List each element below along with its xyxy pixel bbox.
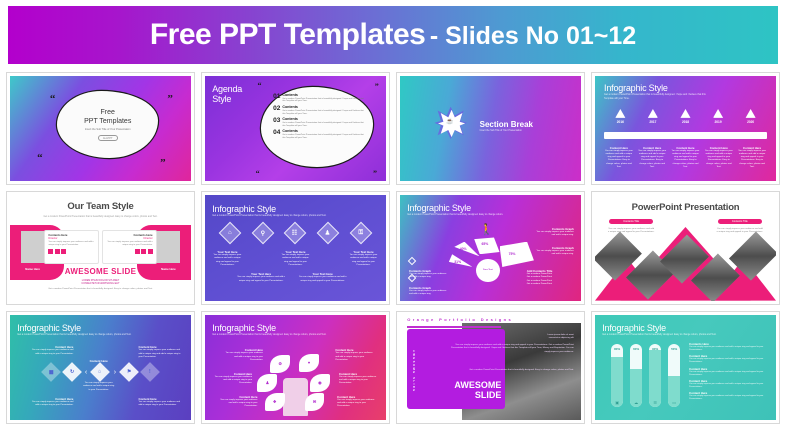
callout: Content HereYou can simply impress your … [335,348,375,362]
diamond-captions-top: Your Text HereYou can simply impress you… [210,250,380,267]
facebook-icon[interactable] [48,249,53,254]
caption: Your Text HereYou can simply impress you… [348,250,379,267]
quote-close-icon: ” [375,82,379,91]
portfolio-body-top: Lorem ipsum dolor sit amet consectetur a… [447,334,574,341]
center-heading: Content Here [82,359,115,363]
person-figure-icon: 🚶 [480,223,494,236]
callout-body: You can simply impress your audience and… [534,250,574,257]
portfolio-side-label: AWESOME SLIDE [412,350,415,393]
tag-icon: ⚑ [119,362,139,382]
slide1-subtitle: Insert the Sub Title of Your Presentatio… [85,128,131,132]
slide12-heading: Infographic Style Get a modern PowerPoin… [602,323,729,336]
progress-bar: 90%☰ [649,344,661,407]
lock-icon: ⚿ [349,221,372,244]
page-banner: Free PPT Templates - Slides No 01~12 [8,6,778,64]
pie-value: 40% [460,247,467,251]
pie-value: 65% [481,242,488,246]
agenda-item: 03 Contents Get a modern PowerPoint Pres… [273,118,365,128]
pill-text-left: You can simply impress your audience and… [608,228,655,235]
callout: Contents GraphYou can simply impress you… [409,268,449,297]
pie-center: Your Text [476,259,500,282]
slide-thumbnail-11[interactable]: Orange Portfolio Designs AWESOME SLIDE L… [396,311,585,424]
bar-fill [649,350,661,407]
legend-row: Content HereYou can simply impress your … [689,354,769,364]
triangle-icon [713,109,724,119]
pie-center-label: Your Text [483,269,493,271]
slide3-title: Section Break [480,120,533,129]
pie-value: 31% [454,260,461,264]
title-blob: Free PPT Templates Insert the Sub Title … [57,91,158,158]
bar-value: 90% [649,347,661,351]
column-body: You can simply impress your audience and… [671,150,699,170]
callout-body: You can simply impress your audience and… [139,401,184,408]
legend: Add Contents Title Get a modern PowerPoi… [527,269,574,286]
caption: Your Text HereYou can simply impress you… [235,272,287,283]
slide12-subtitle: Get a modern PowerPoint Presentation tha… [602,333,729,336]
quote-open-icon: “ [50,93,56,105]
timeline-node: 2016 [615,109,626,124]
agenda-number: 04 [273,130,280,137]
agenda-desc: Get a modern PowerPoint Presentation tha… [282,110,365,116]
linkedin-icon[interactable] [148,249,153,254]
callout-body: You can simply impress your audience and… [335,352,375,362]
alert-icon: ! [140,362,160,382]
column-body: You can simply impress your audience and… [638,150,666,170]
column-body: You can simply impress your audience and… [705,150,733,170]
search-icon: ⚲ [252,221,275,244]
slide-thumbnail-6[interactable]: Infographic Style Get a modern PowerPoin… [201,191,390,304]
bar-value: 50% [668,347,680,351]
timeline-year: 2019 [715,120,722,124]
member-role: Director [48,237,94,240]
coffee-cup-icon: ☕ [446,118,453,125]
grid-icon: ▦ [41,362,61,382]
legend-body: You can simply impress your audience and… [689,358,769,364]
triangle-icon [680,109,691,119]
agenda-item: 02 Contents Get a modern PowerPoint Pres… [273,106,365,116]
progress-bar: 50%▭ [668,344,680,407]
pie-value: 75% [509,252,516,256]
triangle-icon [745,109,756,119]
member-photo [157,231,181,263]
legend-row: Content HereYou can simply impress your … [689,391,769,401]
slide9-title: Infographic Style [17,323,144,333]
member-desc: You can simply impress your audience and… [48,241,94,247]
column-body: You can simply impress your audience and… [605,150,633,170]
center-callout: Content Here [82,359,115,363]
awesome-note: Get a modern PowerPoint Presentation tha… [10,288,191,291]
agenda-blob: 01 Contents Get a modern PowerPoint Pres… [261,87,373,167]
banner-title: Free PPT Templates - Slides No 01~12 [150,18,636,52]
legend-row: Content HereYou can simply impress your … [689,379,769,389]
awesome-subtext: LOREM IPSUM DOLOR SIT AMET CONSECTETUR A… [10,279,191,286]
slide3-text: Section Break Insert the Sub Title of Yo… [480,120,533,132]
portfolio-header: Orange Portfolio Designs [407,317,513,322]
member-desc: You can simply impress your audience and… [106,241,152,247]
slide-thumbnail-5[interactable]: Our Team Style Get a modern PowerPoint P… [6,191,195,304]
legend-item: Get a modern PowerPoint [527,283,574,286]
awesome-slide-text: AWESOME SLIDE [10,267,191,276]
center-callout-body: You can simply impress your audience and… [82,382,115,392]
slide12-title: Infographic Style [602,323,729,333]
callout: Content HereYou can simply impress your … [28,345,73,356]
timeline-year: 2020 [747,120,754,124]
timeline-column: Content HereYou can simply impress your … [638,146,666,170]
member-role: Director [106,237,152,240]
progress-bar: 80%▣ [611,344,623,407]
awesome-slide-text: AWESOME SLIDE [440,380,502,401]
center-body: You can simply impress your audience and… [82,382,115,392]
agenda-label: Contents [282,118,365,122]
callout: Content HereYou can simply impress your … [28,397,73,408]
callout-body: You can simply impress your audience and… [409,290,449,297]
agenda-desc: Get a modern PowerPoint Presentation tha… [282,122,365,128]
callout-body: You can simply impress your audience and… [337,399,377,409]
callout-body: You can simply impress your audience and… [218,399,258,409]
timeline-node: 2017 [647,109,658,124]
slide1-badge: ALLPPT [98,135,118,141]
callout: Content HereYou can simply impress your … [337,395,377,409]
callout-body: You can simply impress your audience and… [28,401,73,408]
progress-bar: 60%☁ [630,344,642,407]
callout: Content HereYou can simply impress your … [212,372,252,386]
puzzle-icon: ❖ [265,393,285,411]
quote-open-2-icon: “ [256,169,260,178]
slide1-title-line1: Free [101,108,115,117]
agenda-label: Contents [282,106,365,110]
awesome-line1: AWESOME [440,380,502,390]
twitter-icon[interactable] [55,249,60,254]
linkedin-icon[interactable] [61,249,66,254]
eye-icon: ◉ [310,374,330,392]
slide2-heading: Agenda Style [212,84,242,104]
timeline-year: 2017 [649,120,656,124]
caption-body: You can simply impress your audience and… [297,276,349,283]
slide-thumbnail-3[interactable]: ☕ Section Break Insert the Sub Title of … [396,72,585,185]
monitor-icon: ▣ [611,400,623,405]
agenda-number: 03 [273,118,280,125]
refresh-icon: ↻ [62,362,82,382]
slide10-title: Infographic Style [212,323,339,333]
bar-value: 80% [611,347,623,351]
slide1-title-line2: PPT Templates [84,117,131,126]
caption: Your Text HereYou can simply impress you… [280,250,311,267]
home-icon: ⌂ [219,221,242,244]
member-card: Contents Here Director You can simply im… [102,230,156,264]
legend-row: Content HereYou can simply impress your … [689,367,769,377]
header-underline [407,326,501,328]
bar-legend: Contents HereYou can simply impress your… [689,342,769,403]
chat-icon: ▭ [668,400,680,405]
callout: Content HereYou can simply impress your … [223,348,263,362]
legend-body: You can simply impress your audience and… [689,371,769,377]
slide-grid: “ ” “ ” Free PPT Templates Insert the Su… [6,72,780,424]
slide-thumbnail-4[interactable]: Infographic Style Get a modern PowerPoin… [591,72,780,185]
slide6-heading: Infographic Style Get a modern PowerPoin… [212,204,339,217]
slide3-subtitle: Insert the Sub Title of Your Presentatio… [480,129,533,132]
slide5-title: Our Team Style [10,201,191,212]
agenda-desc: Get a modern PowerPoint Presentation tha… [282,134,365,140]
timeline-column: Content HereYou can simply impress your … [605,146,633,170]
gear-icon: ⚙ [270,355,290,373]
social-icons[interactable] [106,249,152,254]
bar-group: 80%▣ 60%☁ 90%☰ 50%▭ [608,344,684,407]
diamond-group: ▦ ↻ ‹ ⌂ › ⚑ ! [44,365,156,379]
quote-open-icon: “ [257,81,261,90]
mail-icon: ✉ [305,393,325,411]
quote-open-2-icon: “ [37,152,43,164]
twitter-icon[interactable] [141,249,146,254]
slide-thumbnail-2[interactable]: Agenda Style “ ” “ ” 01 Contents Get a m… [201,72,390,185]
timeline-node: 2018 [680,109,691,124]
callout: Contents GraphYou can simply impress you… [534,246,574,257]
callout: Content HereYou can simply impress your … [139,397,184,408]
slide5-subtitle: Get a modern PowerPoint Presentation tha… [10,215,191,218]
portfolio-body-main: You can simply impress your audience and… [447,344,574,354]
caption-body: You can simply impress your audience and… [212,254,243,267]
slide10-subtitle: Get a modern PowerPoint Presentation tha… [212,333,339,336]
timeline-column: Content HereYou can simply impress your … [671,146,699,170]
slide-thumbnail-1[interactable]: “ ” “ ” Free PPT Templates Insert the Su… [6,72,195,185]
caption: Your Text HereYou can simply impress you… [297,272,349,283]
triangle-icon [615,109,626,119]
caption: Your Text HereYou can simply impress you… [212,250,243,267]
user-icon: ♟ [317,221,340,244]
banner-title-main: Free PPT Templates [150,18,426,51]
agenda-item: 04 Contents Get a modern PowerPoint Pres… [273,130,365,140]
slide8-title: PowerPoint Presentation [595,202,776,213]
timeline-columns: Content HereYou can simply impress your … [602,146,769,170]
timeline-years: 2016 2017 2018 2019 2020 [604,109,767,124]
portfolio-body-bottom: Get a modern PowerPoint Presentation tha… [447,369,574,372]
slide4-subtitle: Get a modern PowerPoint Presentation tha… [604,93,713,100]
agenda-number: 02 [273,106,280,113]
quote-close-2-icon: ” [160,157,166,169]
timeline-column: Content HereYou can simply impress your … [705,146,733,170]
triangle-icon [647,109,658,119]
caption-body: You can simply impress your audience and… [280,254,311,267]
callout-body: You can simply impress your audience and… [28,349,73,356]
slide9-subtitle: Get a modern PowerPoint Presentation tha… [17,333,144,336]
diamond-marker-icon [408,257,416,265]
doc-icon: ☰ [649,400,661,405]
timeline-bar [604,132,767,139]
diamond-marker-icon [408,274,416,282]
slide2-title-line1: Agenda [212,84,242,94]
timeline-node: 2019 [713,109,724,124]
legend-row: Contents HereYou can simply impress your… [689,342,769,352]
callout-body: You can simply impress your audience and… [339,376,379,386]
pie-wedge [454,242,479,257]
pill-label-right: Contents Title [718,219,761,224]
user-icon: ♟ [257,374,277,392]
home-icon: ⌂ [91,362,111,382]
slide7-subtitle: Get a modern PowerPoint Presentation tha… [407,213,516,216]
slide7-heading: Infographic Style Get a modern PowerPoin… [407,203,516,216]
callout: Contents GraphYou can simply impress you… [534,227,574,238]
slide-thumbnail-10[interactable]: Infographic Style Get a modern PowerPoin… [201,311,390,424]
member-photo [21,231,45,263]
diamond-row: ⌂ ⚲ ☷ ♟ ⚿ [214,225,377,241]
callout-body: You can simply impress your audience and… [534,231,574,238]
pie-wedge [474,237,499,254]
slide-thumbnail-7[interactable]: Infographic Style Get a modern PowerPoin… [396,191,585,304]
timeline-column: Content HereYou can simply impress your … [738,146,766,170]
caption-body: You can simply impress your audience and… [348,254,379,267]
timeline-year: 2018 [682,120,689,124]
facebook-icon[interactable] [135,249,140,254]
slide4-heading: Infographic Style Get a modern PowerPoin… [604,83,713,100]
diamond-captions-bottom: Your Text HereYou can simply impress you… [230,272,353,283]
column-body: You can simply impress your audience and… [738,150,766,170]
agenda-desc: Get a modern PowerPoint Presentation tha… [282,98,365,104]
legend-body: You can simply impress your audience and… [689,395,769,401]
awesome-line2: SLIDE [440,390,502,400]
callout-body: You can simply impress your audience and… [223,352,263,362]
slide10-heading: Infographic Style Get a modern PowerPoin… [212,323,339,336]
bar-value: 60% [630,347,642,351]
slide7-title: Infographic Style [407,203,516,213]
banner-title-sub: - Slides No 01~12 [430,22,636,50]
slide4-title: Infographic Style [604,83,713,93]
agenda-label: Contents [282,94,365,98]
timeline-node: 2020 [745,109,756,124]
legend-body: You can simply impress your audience and… [689,383,769,389]
template-gallery-page: Free PPT Templates - Slides No 01~12 “ ”… [0,0,786,430]
quote-close-icon: ” [167,93,173,105]
pill-label-left: Contents Title [609,219,652,224]
slide2-title-line2: Style [212,94,242,104]
slide-thumbnail-9[interactable]: Infographic Style Get a modern PowerPoin… [6,311,195,424]
caption-body: You can simply impress your audience and… [235,276,287,283]
callout-body: You can simply impress your audience and… [139,349,184,359]
agenda-number: 01 [273,94,280,101]
chevron-left-icon: ‹ [85,369,87,376]
slide6-subtitle: Get a modern PowerPoint Presentation tha… [212,214,339,217]
member-card: Contents Here Director You can simply im… [44,230,98,264]
chevron-right-icon: › [114,369,116,376]
slide-thumbnail-12[interactable]: Infographic Style Get a modern PowerPoin… [591,311,780,424]
social-icons[interactable] [48,249,94,254]
callout: Content HereYou can simply impress your … [339,372,379,386]
slide9-heading: Infographic Style Get a modern PowerPoin… [17,323,144,336]
slide6-title: Infographic Style [212,204,339,214]
quote-close-2-icon: ” [373,169,377,178]
callout: Content HereYou can simply impress your … [139,345,184,359]
slide-thumbnail-8[interactable]: PowerPoint Presentation Contents Title C… [591,191,780,304]
callout: Content HereYou can simply impress your … [218,395,258,409]
pie-wedge [500,242,534,267]
chart-icon: ☷ [284,221,307,244]
heart-icon: ♥ [299,354,319,372]
timeline-year: 2016 [617,120,624,124]
cloud-icon: ☁ [630,400,642,405]
legend-body: You can simply impress your audience and… [689,346,769,352]
agenda-item: 01 Contents Get a modern PowerPoint Pres… [273,94,365,104]
callout-body: You can simply impress your audience and… [212,376,252,386]
